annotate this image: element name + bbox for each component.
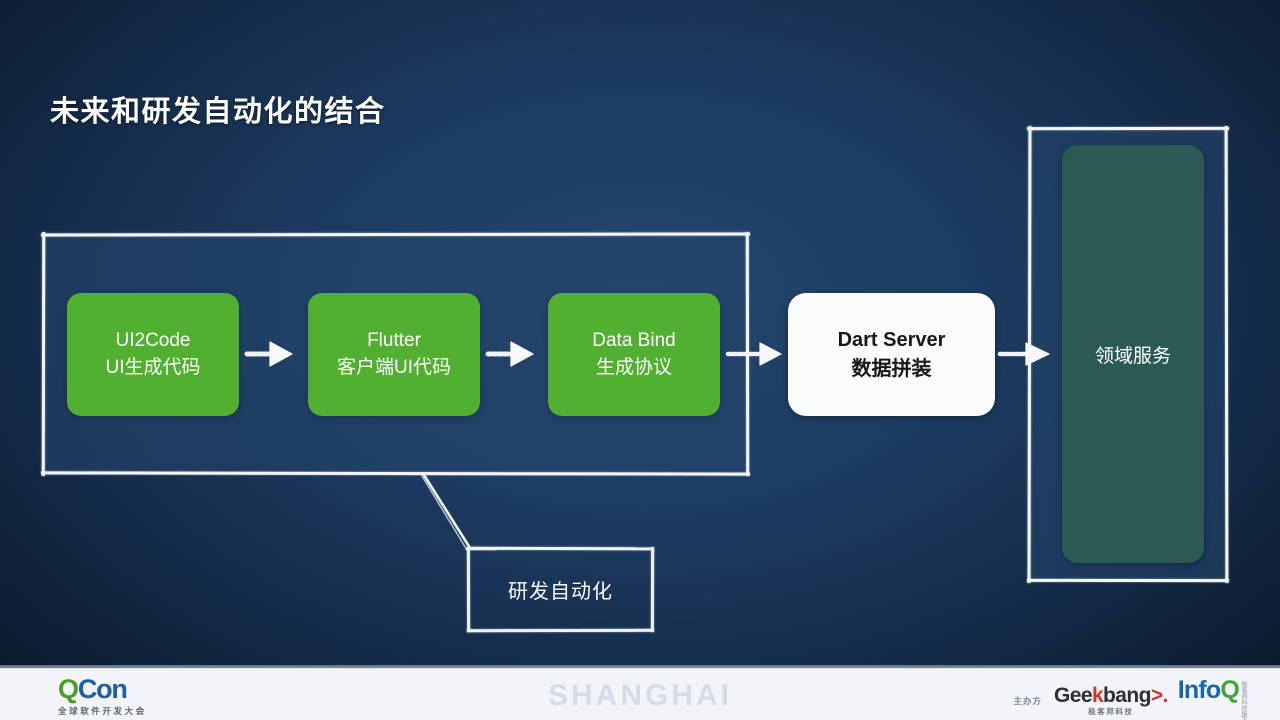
process-box-databind-line2: 生成协议 [596, 355, 672, 382]
process-box-flutter-line2: 客户端UI代码 [337, 355, 451, 382]
process-box-databind[interactable]: Data Bind 生成协议 [548, 293, 720, 416]
host-label: 主办方 [1014, 695, 1043, 707]
arrow-right-icon [999, 338, 1051, 370]
geekbang-wordmark: Geekbang>. [1054, 685, 1168, 706]
infoq-wordmark: InfoQ [1178, 678, 1239, 703]
domain-edge-top-icon [1027, 127, 1229, 130]
process-box-flutter[interactable]: Flutter 客户端UI代码 [308, 293, 480, 416]
geekbang-part-gee: Gee [1054, 684, 1092, 707]
sponsor-logos: 主办方 Geekbang>. 极客邦科技 InfoQ 极客邦科技旗下 [1014, 678, 1246, 720]
geekbang-chevron-icon: >. [1151, 684, 1168, 707]
arrow-right-icon [727, 338, 779, 370]
domain-edge-bottom-icon [1027, 579, 1229, 582]
infoq-part-q: Q [1220, 676, 1239, 704]
infoq-subtitle: 极客邦科技旗下 [1240, 681, 1246, 720]
arrow-right-icon [487, 338, 539, 370]
process-box-ui2code[interactable]: UI2Code UI生成代码 [67, 293, 239, 416]
callout-edge-top-icon [467, 547, 654, 550]
callout-edge-right-icon [651, 547, 654, 632]
callout-label: 研发自动化 [508, 575, 613, 604]
geekbang-part-k: k [1092, 684, 1103, 707]
callout-edge-left-icon [467, 547, 470, 632]
footer-divider [0, 665, 1280, 669]
process-box-dart-server[interactable]: Dart Server 数据拼装 [788, 293, 995, 416]
process-box-flutter-line1: Flutter [367, 328, 421, 355]
process-box-ui2code-line2: UI生成代码 [105, 355, 200, 382]
container-edge-top-icon [41, 233, 750, 237]
domain-edge-right-icon [1225, 126, 1229, 583]
domain-service-label: 领域服务 [1095, 341, 1171, 368]
process-box-ui2code-line1: UI2Code [116, 328, 191, 355]
infoq-part-info: Info [1178, 676, 1221, 704]
process-box-databind-line1: Data Bind [592, 328, 675, 355]
domain-service-box[interactable]: 领域服务 [1062, 145, 1204, 563]
infoq-logo: InfoQ 极客邦科技旗下 [1178, 678, 1246, 720]
slide-canvas: 未来和研发自动化的结合 UI2Code UI生成代码 Flutter 客户端UI… [0, 0, 1280, 720]
geekbang-subtitle: 极客邦科技 [1054, 708, 1168, 716]
container-edge-left-icon [42, 232, 46, 476]
process-box-dart-server-line2: 数据拼装 [852, 355, 932, 383]
page-title: 未来和研发自动化的结合 [50, 88, 386, 130]
process-box-dart-server-line1: Dart Server [838, 326, 946, 354]
geekbang-logo: Geekbang>. 极客邦科技 [1054, 685, 1168, 716]
slide-footer: QCon 全球软件开发大会 SHANGHAI 主办方 Geekbang>. 极客… [0, 668, 1280, 720]
container-edge-bottom-icon [41, 471, 750, 475]
geekbang-part-bang: bang [1103, 684, 1151, 707]
arrow-right-icon [246, 338, 298, 370]
callout-edge-bottom-icon [467, 629, 654, 632]
callout-box-automation[interactable]: 研发自动化 [467, 547, 654, 632]
